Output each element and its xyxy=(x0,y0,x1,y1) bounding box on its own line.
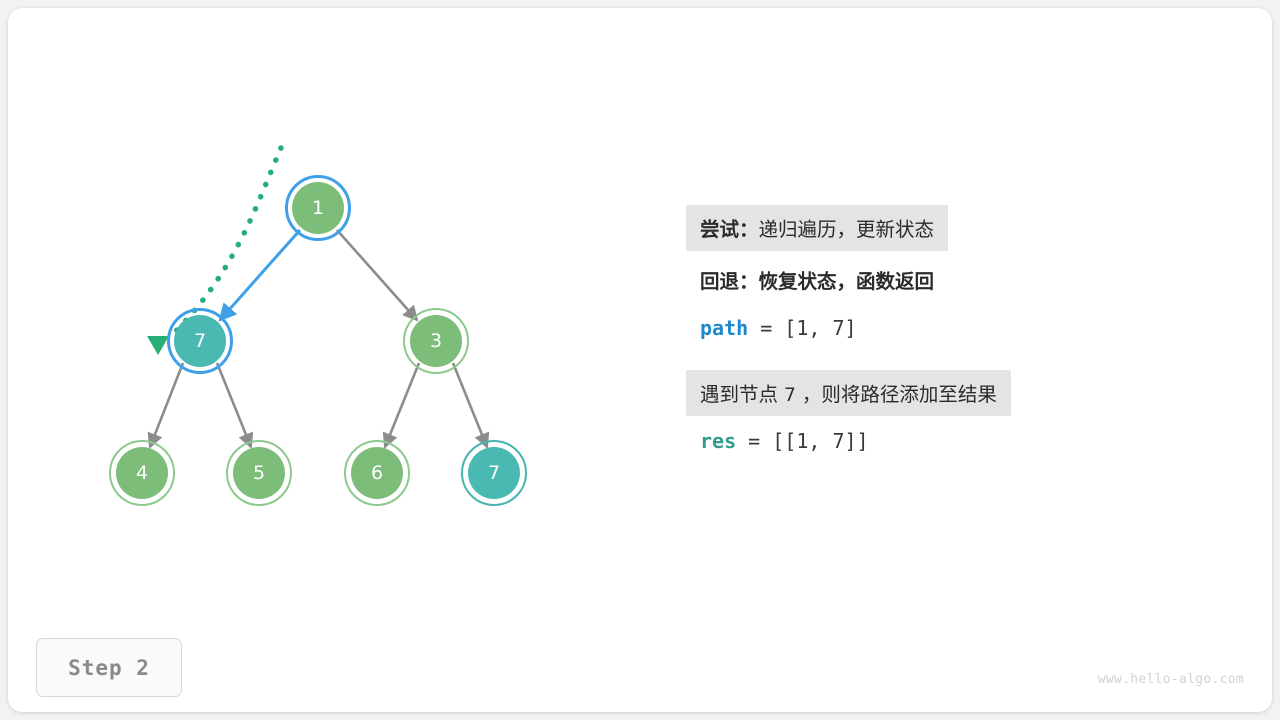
recursion-arrowhead xyxy=(147,336,169,355)
tree-node-label: 7 xyxy=(194,332,206,351)
tree-node-label: 3 xyxy=(430,332,442,351)
tree-node-label: 7 xyxy=(488,464,500,483)
recursion-dotted-curve xyxy=(175,148,281,332)
tree-edge xyxy=(453,363,487,447)
panel-row-try: 尝试：递归遍历，更新状态 xyxy=(686,205,1246,251)
tree-node-label: 1 xyxy=(312,199,324,218)
panel-row-res: res = [[1, 7]] xyxy=(686,422,1246,461)
panel-row-backtrack: 回退：恢复状态，函数返回 xyxy=(686,257,1246,303)
tree-node-1[interactable]: 1 xyxy=(292,182,344,234)
try-text-box: 尝试：递归遍历，更新状态 xyxy=(686,205,948,251)
tree-edge xyxy=(337,230,417,320)
tree-edge xyxy=(217,363,251,447)
path-code-row: path = [1, 7] xyxy=(686,309,871,348)
tree-node-7[interactable]: 7 xyxy=(468,447,520,499)
step-badge-label: Step 2 xyxy=(68,656,150,680)
tree-node-label: 6 xyxy=(371,464,383,483)
site-watermark: www.hello-algo.com xyxy=(1098,672,1244,687)
tree-node-label: 4 xyxy=(136,464,148,483)
tree-edge xyxy=(385,363,419,447)
path-value: = [1, 7] xyxy=(748,316,856,340)
path-variable-name: path xyxy=(700,316,748,340)
backtrack-text-box: 回退：恢复状态，函数返回 xyxy=(686,257,948,303)
panel-row-found: 遇到节点 7 ，则将路径添加至结果 xyxy=(686,370,1246,416)
tree-node-6[interactable]: 6 xyxy=(351,447,403,499)
try-description: 递归遍历，更新状态 xyxy=(759,218,935,241)
tree-node-3[interactable]: 3 xyxy=(410,315,462,367)
tree-edge xyxy=(220,230,300,320)
screenshot-stage: 1 7 3 4 5 6 7 尝试：递归遍历，更新状态 回退：恢复状态，函数返回 … xyxy=(0,0,1280,720)
backtrack-label: 回退： xyxy=(700,270,759,293)
tree-node-2[interactable]: 7 xyxy=(174,315,226,367)
annotation-panel: 尝试：递归遍历，更新状态 回退：恢复状态，函数返回 path = [1, 7] … xyxy=(686,205,1246,467)
res-value: = [[1, 7]] xyxy=(736,429,868,453)
found-text-before: 遇到节点 xyxy=(700,383,784,406)
found-text-box: 遇到节点 7 ，则将路径添加至结果 xyxy=(686,370,1011,416)
tree-node-5[interactable]: 5 xyxy=(233,447,285,499)
res-code-row: res = [[1, 7]] xyxy=(686,422,883,461)
step-badge: Step 2 xyxy=(36,638,182,697)
res-variable-name: res xyxy=(700,429,736,453)
tree-edge xyxy=(150,363,183,447)
backtrack-description: 恢复状态，函数返回 xyxy=(759,270,935,293)
binary-tree-diagram: 1 7 3 4 5 6 7 xyxy=(0,0,660,720)
watermark-text: www.hello-algo.com xyxy=(1098,672,1244,687)
try-label: 尝试： xyxy=(700,218,759,241)
panel-row-path: path = [1, 7] xyxy=(686,309,1246,348)
tree-node-label: 5 xyxy=(253,464,265,483)
tree-node-4[interactable]: 4 xyxy=(116,447,168,499)
tree-edges-svg xyxy=(0,0,660,720)
found-target-value: 7 xyxy=(784,384,795,406)
found-text-after: ，则将路径添加至结果 xyxy=(796,383,997,406)
